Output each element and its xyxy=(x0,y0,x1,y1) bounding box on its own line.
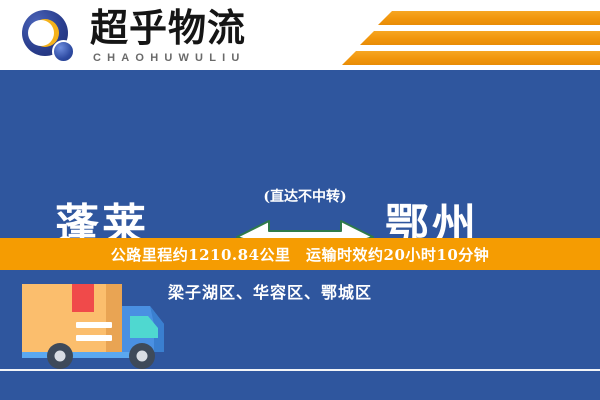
brand-subtitle: CHAOHUWULIU xyxy=(93,51,246,65)
road-line xyxy=(0,369,600,371)
header-bar: 超乎物流 CHAOHUWULIU xyxy=(0,0,600,70)
logistics-route-card: 超乎物流 CHAOHUWULIU 蓬莱 (直达不中转) 【往返运输】 鄂州 公路… xyxy=(0,0,600,400)
logo-small-dot-shape xyxy=(52,40,75,63)
chaohu-logo-icon xyxy=(22,10,76,64)
logo-crescent-white-shape xyxy=(28,20,54,46)
brand-text-block: 超乎物流 CHAOHUWULIU xyxy=(90,7,246,65)
distance-duration-text: 公路里程约1210.84公里 运输时效约20小时10分钟 xyxy=(111,244,490,265)
delivery-truck-icon xyxy=(14,278,174,378)
route-note-top: (直达不中转) xyxy=(225,188,385,206)
distance-duration-bar: 公路里程约1210.84公里 运输时效约20小时10分钟 xyxy=(0,238,600,270)
brand-title: 超乎物流 xyxy=(90,7,246,49)
coverage-districts-text: 梁子湖区、华容区、鄂城区 xyxy=(168,282,372,304)
header-stripe-3 xyxy=(342,51,600,65)
route-panel: 蓬莱 (直达不中转) 【往返运输】 鄂州 xyxy=(0,70,600,238)
header-stripe-2 xyxy=(360,31,600,45)
header-stripe-1 xyxy=(378,11,600,25)
